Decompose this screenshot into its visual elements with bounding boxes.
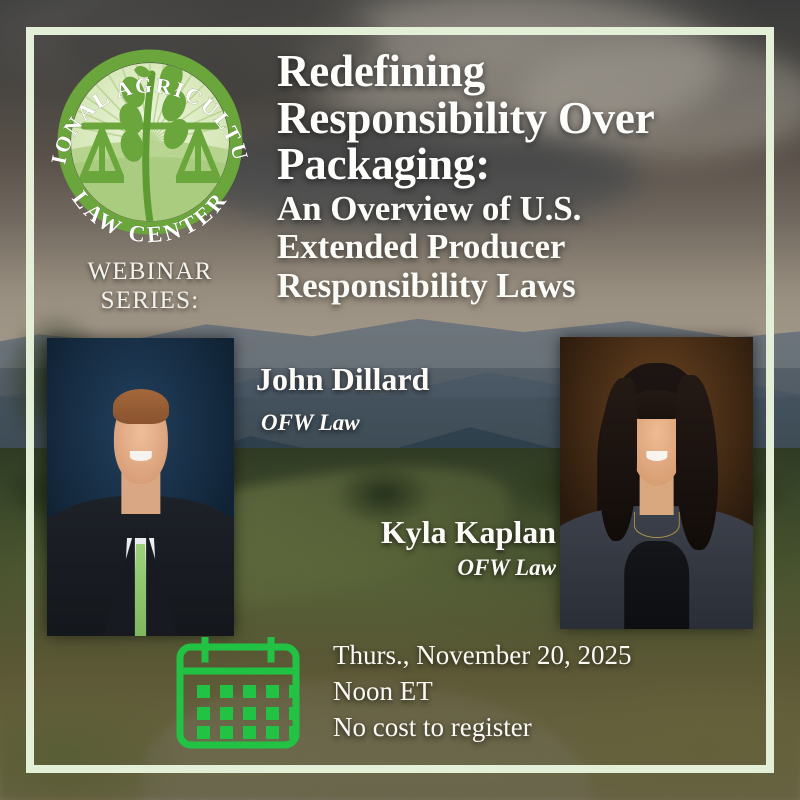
black-top <box>624 541 690 629</box>
title-line-1: Redefining <box>277 48 777 95</box>
subtitle-line-1: An Overview of U.S. <box>277 190 777 229</box>
webinar-series-label: WEBINAR SERIES: <box>40 258 260 315</box>
speaker-photo-kyla-kaplan <box>560 337 753 629</box>
event-details: Thurs., November 20, 2025 Noon ET No cos… <box>333 638 753 746</box>
speaker-name-1: John Dillard <box>256 362 429 397</box>
title-block: Redefining Responsibility Over Packaging… <box>277 48 777 305</box>
speaker-org-2: OFW Law <box>364 555 556 580</box>
event-date: Thurs., November 20, 2025 <box>333 638 753 674</box>
subtitle-line-3: Responsibility Laws <box>277 267 777 306</box>
title-line-2: Responsibility Over <box>277 95 777 142</box>
hair <box>112 389 168 425</box>
smile <box>646 451 667 461</box>
smile <box>129 451 151 461</box>
speaker-photo-john-dillard <box>47 338 234 636</box>
speaker-org-1: OFW Law <box>261 410 429 435</box>
calendar-icon <box>175 637 301 749</box>
event-time: Noon ET <box>333 674 753 710</box>
speaker-caption-2: Kyla Kaplan OFW Law <box>364 515 556 580</box>
webinar-promo-poster: NATIONAL AGRICULTURAL LAW CENTER WEBINAR… <box>0 0 800 800</box>
webinar-title: Redefining Responsibility Over Packaging… <box>277 48 777 188</box>
event-cost: No cost to register <box>333 710 753 746</box>
speaker-caption-1: John Dillard OFW Law <box>256 362 429 435</box>
webinar-series-line2: SERIES: <box>40 287 260 316</box>
speaker-name-2: Kyla Kaplan <box>364 515 556 550</box>
national-agricultural-law-center-logo: NATIONAL AGRICULTURAL LAW CENTER <box>40 34 260 256</box>
title-line-3: Packaging: <box>277 141 777 188</box>
subtitle-line-2: Extended Producer <box>277 228 777 267</box>
webinar-subtitle: An Overview of U.S. Extended Producer Re… <box>277 190 777 306</box>
webinar-series-line1: WEBINAR <box>40 258 260 287</box>
